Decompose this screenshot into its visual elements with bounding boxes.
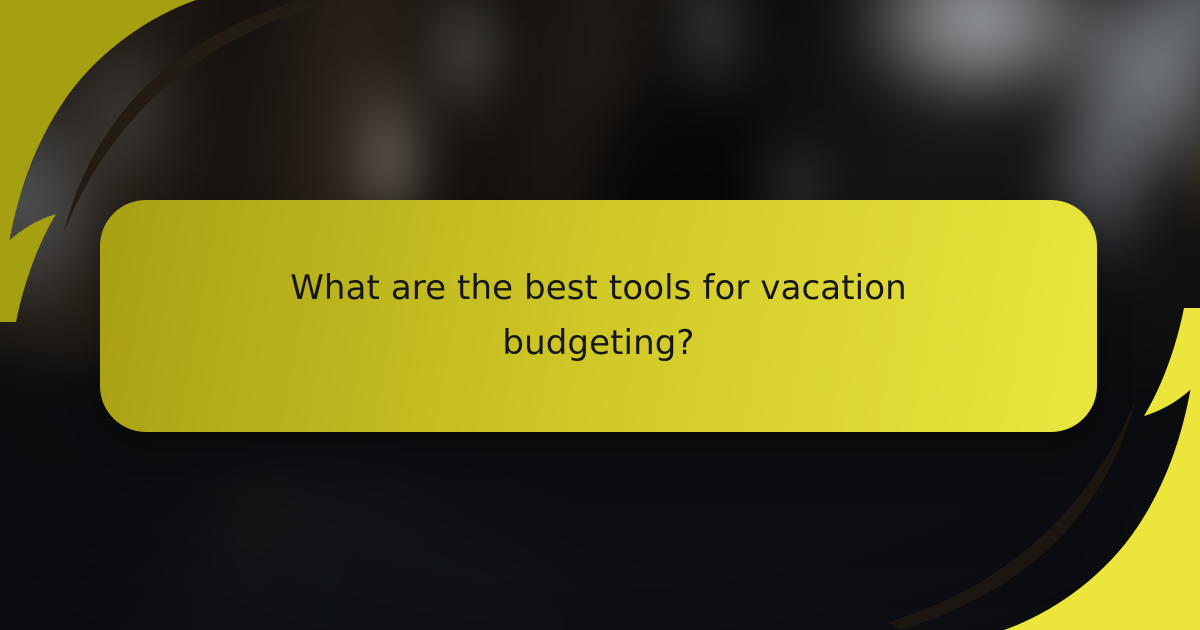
quote-text: What are the best tools for vacation bud…: [199, 261, 999, 371]
social-card-canvas: What are the best tools for vacation bud…: [0, 0, 1200, 630]
quote-card: What are the best tools for vacation bud…: [100, 200, 1097, 432]
